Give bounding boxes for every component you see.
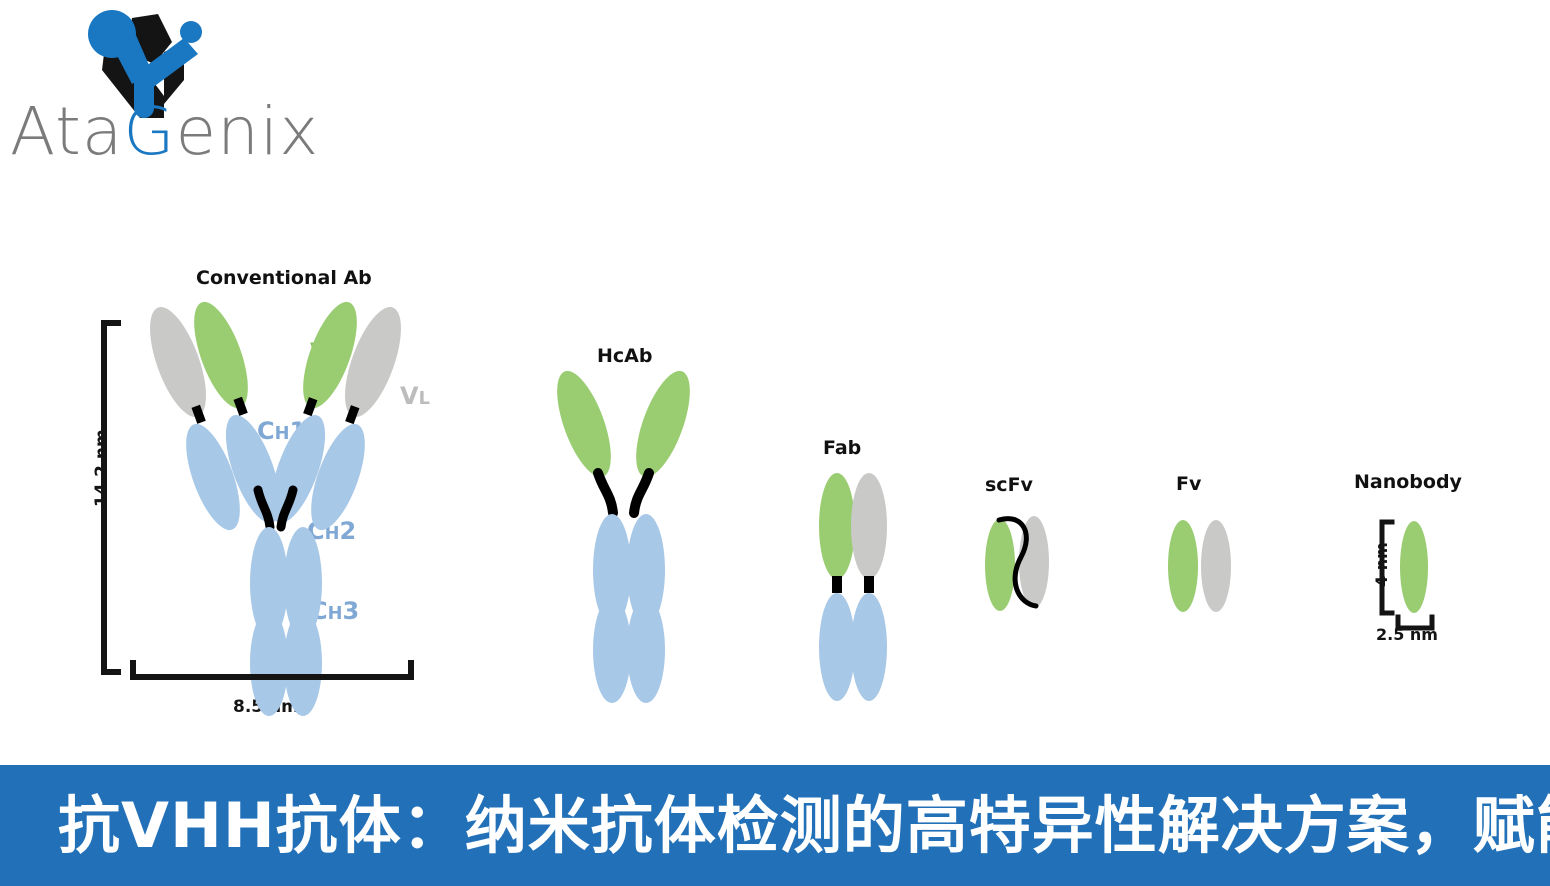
headline-banner: 抗VHH抗体：纳米抗体检测的高特异性解决方案，赋能 (0, 765, 1550, 886)
conventional-ab-structure (138, 296, 412, 716)
antibody-format-diagram: Conventional Ab HcAb Fab scFv Fv Nanobod… (0, 185, 1550, 760)
antibody-structures-svg (0, 185, 1550, 760)
slide-canvas: AtaGenix Conventional Ab HcAb Fab scFv F… (0, 0, 1550, 886)
width-bracket-nanobody (1398, 617, 1432, 628)
nanobody-structure (1400, 521, 1428, 613)
brand-wordmark: AtaGenix (10, 96, 310, 168)
fab-structure (819, 473, 887, 701)
height-bracket-conventional (104, 323, 118, 672)
height-bracket-nanobody (1382, 522, 1392, 613)
fv-structure (1168, 520, 1231, 612)
brand-logo: AtaGenix (0, 0, 340, 185)
brand-name-part1: Ata (10, 93, 123, 170)
banner-headline: 抗VHH抗体：纳米抗体检测的高特异性解决方案，赋能 (58, 765, 1550, 886)
hcab-structure (546, 365, 701, 703)
brand-name-part2: enix (175, 93, 319, 170)
brand-name-highlight: G (123, 93, 175, 170)
scfv-structure (985, 516, 1049, 611)
